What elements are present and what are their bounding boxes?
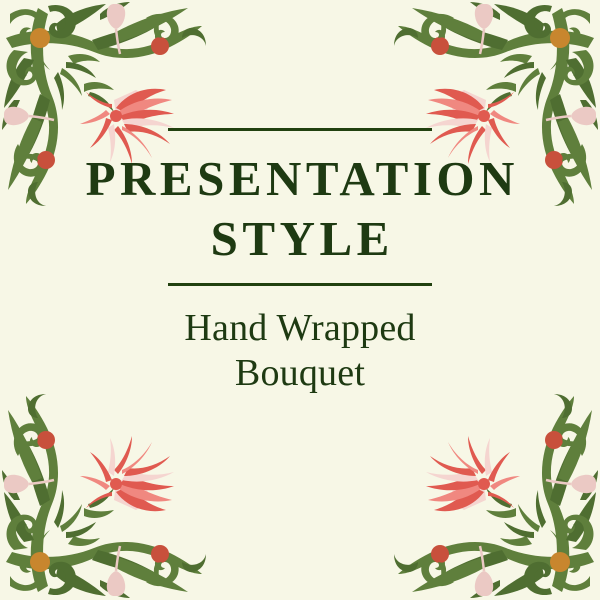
title-line-2: STYLE — [0, 209, 600, 269]
title-line-1: PRESENTATION — [0, 149, 600, 209]
divider-rule-bottom — [168, 283, 432, 286]
subtitle-line-1: Hand Wrapped — [0, 306, 600, 351]
subtitle-block: Hand Wrapped Bouquet — [0, 306, 600, 396]
card-background — [0, 0, 600, 600]
title-block: PRESENTATION STYLE — [0, 128, 600, 286]
presentation-style-card: PRESENTATION STYLE Hand Wrapped Bouquet — [0, 0, 600, 600]
subtitle-line-2: Bouquet — [0, 351, 600, 396]
divider-rule-top — [168, 128, 432, 131]
